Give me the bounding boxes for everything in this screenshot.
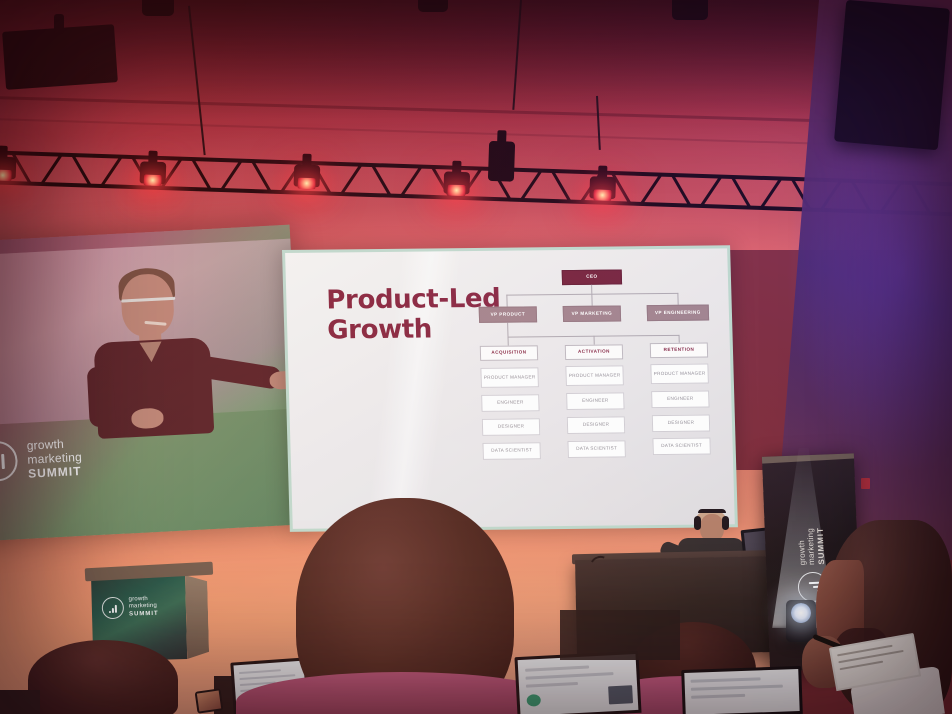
bar-chart-icon [102, 597, 125, 620]
org-role-cell: DATA SCIENTIST [567, 440, 625, 458]
spotlight-lens [791, 603, 811, 623]
org-role-cell: DATA SCIENTIST [482, 442, 540, 460]
brand-logo: growth marketing SUMMIT [0, 436, 83, 484]
slide-title-line-1: Product-Led [326, 285, 501, 316]
org-role-cell: DESIGNER [567, 416, 625, 434]
slide-title: Product-Led Growth [326, 285, 502, 346]
table-edge [560, 610, 680, 660]
bar-chart-icon [0, 441, 19, 483]
org-chart: CEO VP PRODUCT VP MARKETING VP ENGINEERI… [476, 266, 723, 508]
org-role-cell: ENGINEER [651, 391, 709, 409]
org-node-vp-product: VP PRODUCT [479, 306, 537, 323]
projection-screen: Product-Led Growth CEO VP PRODUCT VP MAR… [282, 245, 738, 532]
exit-sign [861, 478, 870, 489]
stage-light [140, 161, 167, 186]
org-node-vp-marketing: VP MARKETING [563, 305, 621, 322]
org-role-cell: PRODUCT MANAGER [565, 365, 624, 386]
org-node-activation: ACTIVATION [565, 344, 623, 360]
podium-brand-logo: growth marketing SUMMIT [102, 596, 159, 619]
org-node-vp-engineering: VP ENGINEERING [647, 305, 709, 322]
stage-light [443, 171, 470, 196]
logo-line-3: SUMMIT [28, 464, 83, 481]
podium-logo-line-3: SUMMIT [129, 610, 159, 618]
stage-light [589, 176, 616, 201]
smartphone [195, 688, 224, 713]
ceiling-light-fixture [672, 0, 708, 20]
table-edge [0, 690, 40, 714]
slide-title-line-2: Growth [327, 314, 502, 345]
video-feed-image [0, 239, 299, 427]
conference-photo: growth marketing SUMMIT Product-Led Grow… [0, 0, 952, 714]
ceiling-projector-box [2, 24, 118, 90]
org-role-cell: ENGINEER [566, 392, 624, 410]
org-role-cell: PRODUCT MANAGER [480, 367, 539, 388]
stage-light [293, 164, 320, 189]
presentation-slide: Product-Led Growth CEO VP PRODUCT VP MAR… [285, 248, 735, 529]
ceiling-mount [54, 14, 64, 34]
org-role-cell: PRODUCT MANAGER [650, 364, 709, 385]
pa-speaker [834, 0, 950, 150]
moving-head-light [488, 141, 515, 166]
org-node-acquisition: ACQUISITION [480, 345, 538, 361]
audience-member-left [28, 640, 178, 714]
org-role-cell: ENGINEER [481, 394, 539, 412]
video-feed-screen: growth marketing SUMMIT [0, 225, 305, 543]
org-node-ceo: CEO [562, 269, 622, 285]
org-role-cell: DESIGNER [652, 415, 710, 433]
org-node-retention: RETENTION [650, 343, 708, 359]
org-role-cell: DATA SCIENTIST [652, 437, 710, 455]
ceiling-light-fixture [418, 0, 448, 12]
org-role-cell: DESIGNER [482, 418, 540, 436]
ceiling-light-fixture [142, 0, 174, 16]
stage-light [0, 156, 16, 181]
